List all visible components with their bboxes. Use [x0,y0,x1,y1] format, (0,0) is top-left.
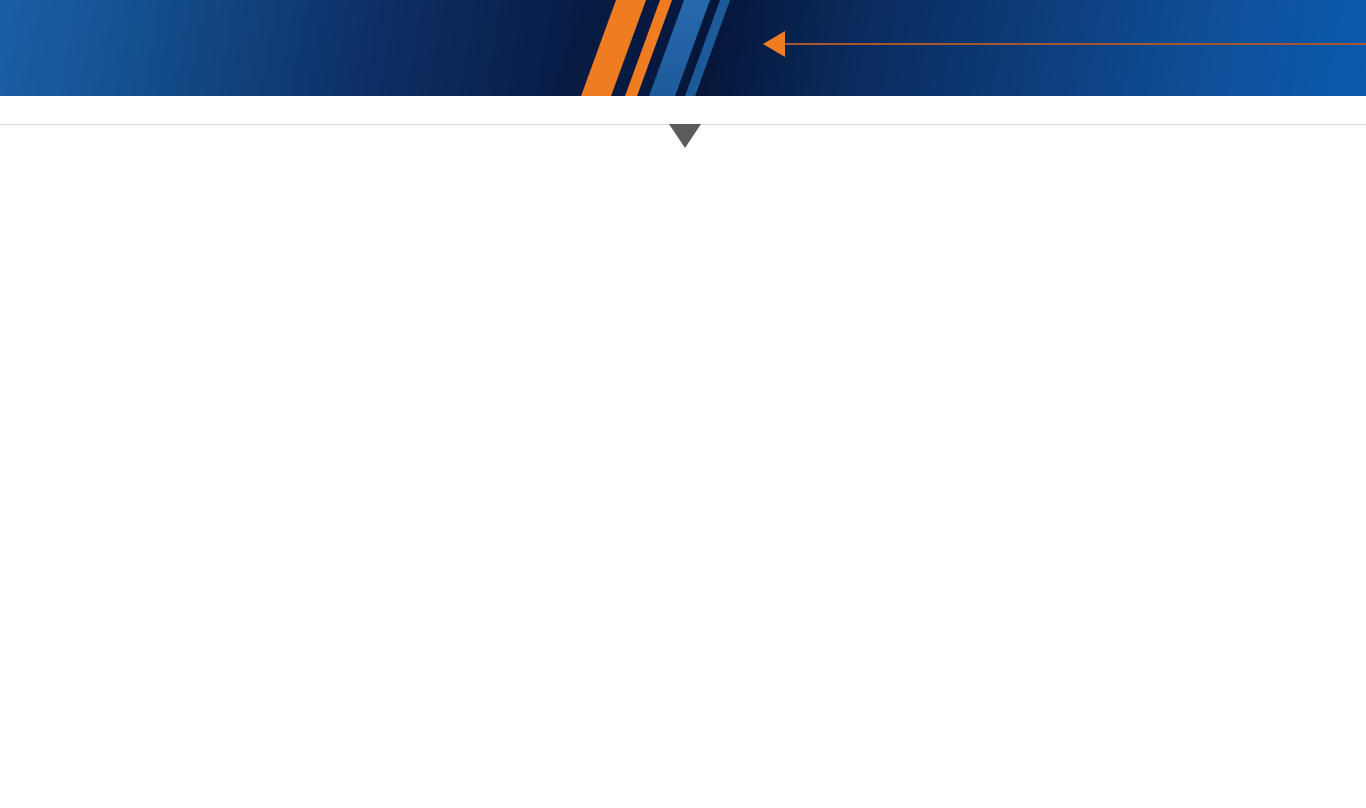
arrow-left-icon [763,31,785,57]
page-header [0,0,1366,96]
header-accent-line [785,43,1366,45]
triangle-down-icon [669,124,701,148]
